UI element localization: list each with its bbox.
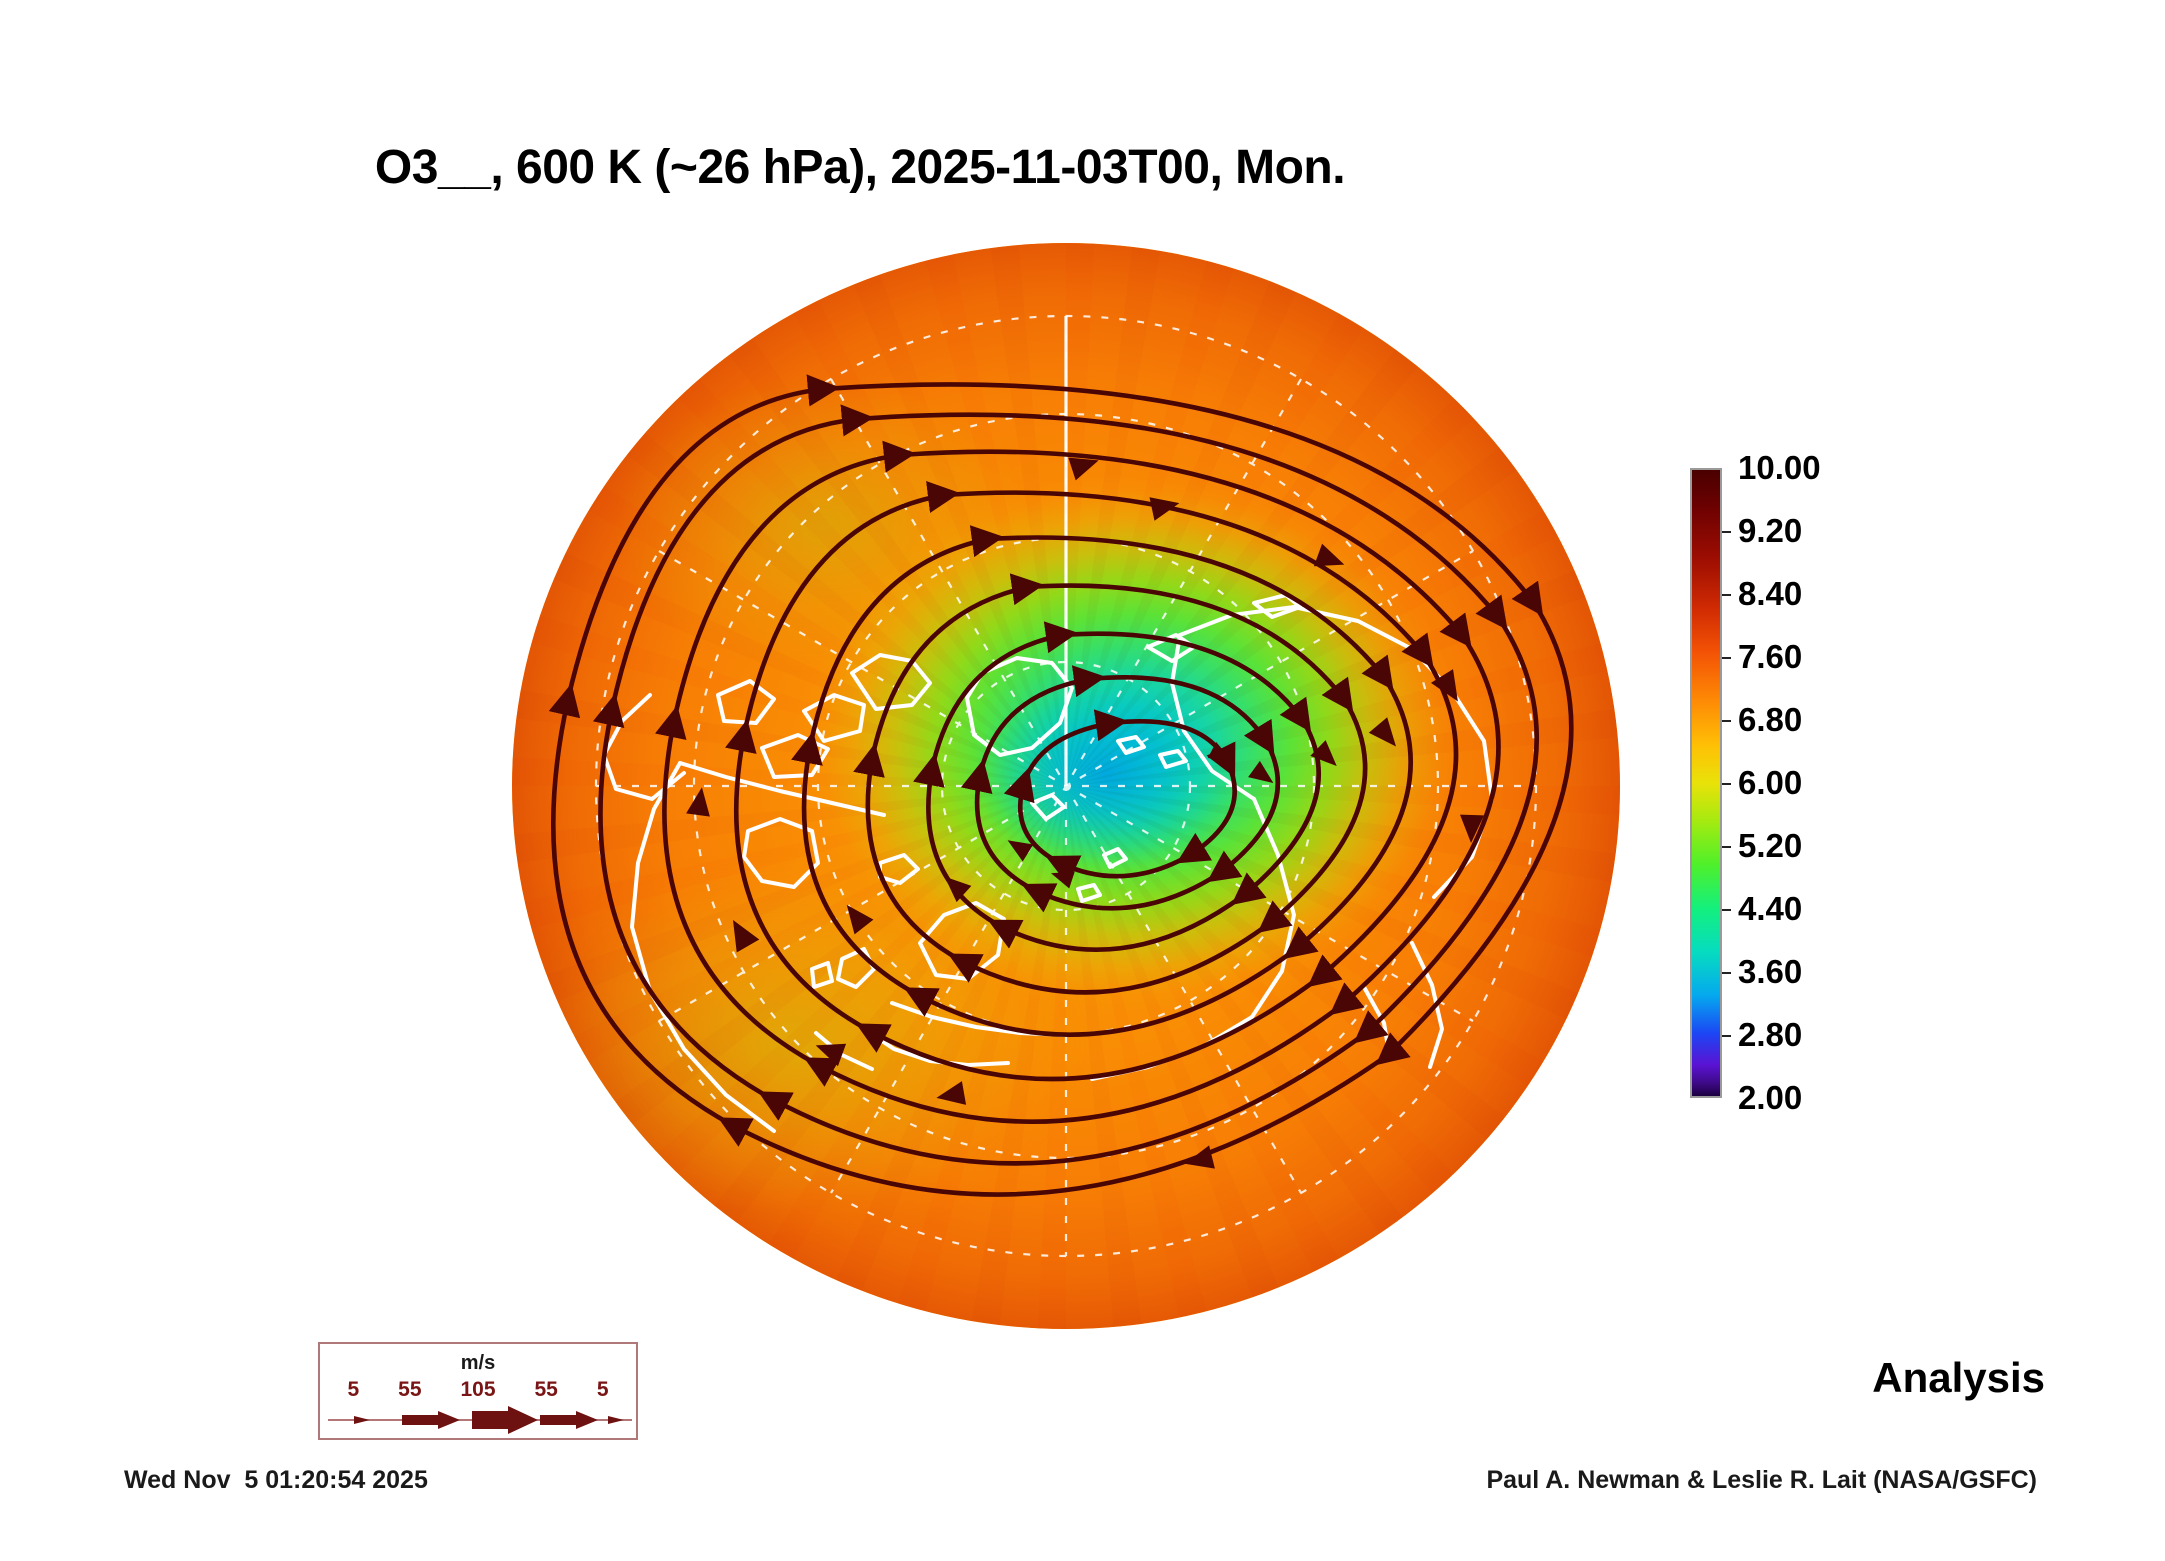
- colorbar-tick-label: 7.60: [1738, 640, 1802, 673]
- colorbar-tick-label: 2.80: [1738, 1018, 1802, 1051]
- wind-legend-tick-label: 5: [347, 1378, 359, 1402]
- wind-legend-arrow-scale: [326, 1406, 634, 1434]
- colorbar-tick: [1722, 720, 1731, 722]
- wind-legend-tick-label: 105: [460, 1378, 495, 1402]
- colorbar-tick-label: 9.20: [1738, 514, 1802, 547]
- colorbar-tick-label: 6.80: [1738, 703, 1802, 736]
- colorbar-tick: [1722, 657, 1731, 659]
- colorbar-tick-label: 10.00: [1738, 451, 1821, 484]
- colorbar-tick-label: 8.40: [1738, 577, 1802, 610]
- colorbar-tick: [1722, 909, 1731, 911]
- page-title: O3__, 600 K (~26 hPa), 2025-11-03T00, Mo…: [0, 140, 1720, 195]
- polar-map-panel[interactable]: [512, 243, 1620, 1329]
- globe-disc: [512, 243, 1620, 1329]
- wind-legend-tick-label: 55: [534, 1378, 557, 1402]
- generation-timestamp: Wed Nov 5 01:20:54 2025: [124, 1466, 428, 1495]
- wind-legend-tick-label: 55: [398, 1378, 421, 1402]
- colorbar-tick: [1722, 594, 1731, 596]
- colorbar-tick-label: 5.20: [1738, 829, 1802, 862]
- analysis-label: Analysis: [1872, 1354, 2045, 1402]
- wind-legend-tick-label: 5: [597, 1378, 609, 1402]
- limb-jet-ring: [512, 243, 1620, 1329]
- colorbar-tick-label: 4.40: [1738, 892, 1802, 925]
- colorbar-tick-label: 2.00: [1738, 1081, 1802, 1114]
- author-credit: Paul A. Newman & Leslie R. Lait (NASA/GS…: [1486, 1466, 2037, 1495]
- colorbar-tick: [1722, 846, 1731, 848]
- colorbar-tick: [1722, 783, 1731, 785]
- colorbar-tick: [1722, 1035, 1731, 1037]
- wind-legend-unit-label: m/s: [320, 1352, 636, 1375]
- colorbar-tick-label: 3.60: [1738, 955, 1802, 988]
- colorbar-tick: [1722, 972, 1731, 974]
- colorbar-gradient: [1690, 468, 1722, 1098]
- colorbar-tick: [1722, 531, 1731, 533]
- colorbar-tick-label: 6.00: [1738, 766, 1802, 799]
- wind-legend-tick-labels: 555105555: [320, 1378, 636, 1402]
- wind-speed-legend: m/s 555105555: [318, 1342, 638, 1440]
